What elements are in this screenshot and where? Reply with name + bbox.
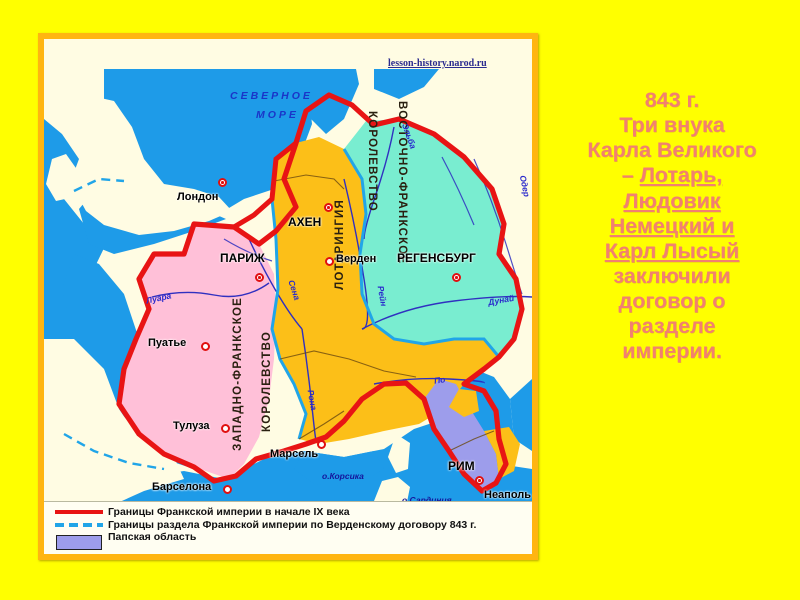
city-dot-paris[interactable] (255, 273, 264, 282)
caption-name-charles: Карл Лысый (548, 239, 796, 264)
legend-key-purple-swatch (50, 532, 108, 550)
city-dot-rome[interactable] (475, 476, 484, 485)
legend-key-dashed-blue-line (50, 520, 108, 527)
legend-label-division-border: Границы раздела Франкской империи по Вер… (108, 520, 476, 531)
caption-line-10: разделе (548, 314, 796, 339)
caption-name-louis-1: Людовик (548, 189, 796, 214)
map-frame: lesson-history.narod.ru СЕВЕРНОЕ МОРЕ СР… (38, 33, 538, 560)
map-graphic (44, 39, 532, 554)
slide-caption: 843 г. Три внука Карла Великого – Лотарь… (548, 88, 796, 365)
caption-line-4: – Лотарь, (548, 163, 796, 188)
city-dot-marseille[interactable] (317, 440, 326, 449)
caption-line-3: Карла Великого (548, 138, 796, 163)
map-canvas: lesson-history.narod.ru СЕВЕРНОЕ МОРЕ СР… (44, 39, 532, 554)
caption-dash: – (622, 163, 640, 187)
city-dot-toulouse[interactable] (221, 424, 230, 433)
caption-line-year: 843 г. (548, 88, 796, 113)
legend-label-papal-state: Папская область (108, 532, 196, 543)
caption-line-9: договор о (548, 289, 796, 314)
city-dot-aachen[interactable] (324, 203, 333, 212)
caption-name-louis-2: Немецкий и (548, 214, 796, 239)
city-dot-poitiers[interactable] (201, 342, 210, 351)
legend-item-empire-border: Границы Франкской империи в начале IX ве… (50, 507, 532, 518)
map-legend: Границы Франкской империи в начале IX ве… (44, 501, 532, 554)
legend-key-solid-red-line (50, 507, 108, 514)
legend-label-empire-border: Границы Франкской империи в начале IX ве… (108, 507, 350, 518)
caption-line-2: Три внука (548, 113, 796, 138)
city-dot-london[interactable] (218, 178, 227, 187)
caption-name-lothair: Лотарь, (640, 163, 723, 187)
city-dot-barcelona[interactable] (223, 485, 232, 494)
city-dot-regensburg[interactable] (452, 273, 461, 282)
legend-item-division-border: Границы раздела Франкской империи по Вер… (50, 520, 532, 531)
caption-line-11: империи. (548, 339, 796, 364)
caption-line-8: заключили (548, 264, 796, 289)
legend-item-papal-state: Папская область (50, 532, 532, 550)
city-dot-verdun[interactable] (325, 257, 334, 266)
